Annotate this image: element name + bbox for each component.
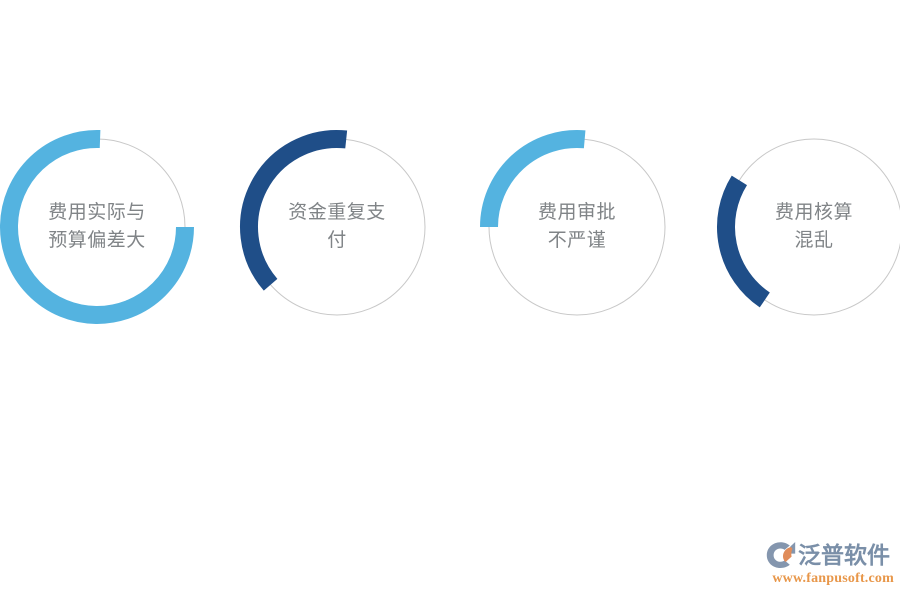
ring-progress-arc-0 — [9, 139, 185, 315]
ring-item-3[interactable]: 费用核算 混乱 — [714, 127, 900, 327]
brand-name: 泛普软件 — [798, 541, 890, 569]
ring-arc-3 — [714, 127, 900, 327]
brand-row: 泛普软件 — [766, 540, 894, 570]
ring-item-1[interactable]: 资金重复支 付 — [237, 127, 437, 327]
ring-progress-arc-3 — [726, 180, 765, 300]
brand-logo: 泛普软件 www.fanpusoft.com — [766, 540, 894, 592]
fanpu-logo-icon — [766, 541, 796, 569]
ring-progress-arc-1 — [249, 139, 346, 285]
ring-progress-arc-2 — [489, 139, 585, 227]
ring-item-2[interactable]: 费用审批 不严谨 — [477, 127, 677, 327]
ring-item-0[interactable]: 费用实际与 预算偏差大 — [0, 127, 197, 327]
ring-arc-2 — [477, 127, 677, 327]
ring-arc-1 — [237, 127, 437, 327]
ring-arc-0 — [0, 127, 197, 327]
ring-diagram: 费用实际与 预算偏差大 资金重复支 付 费用审批 不严谨 费用核算 混乱 — [0, 0, 900, 600]
brand-url: www.fanpusoft.com — [766, 571, 894, 587]
